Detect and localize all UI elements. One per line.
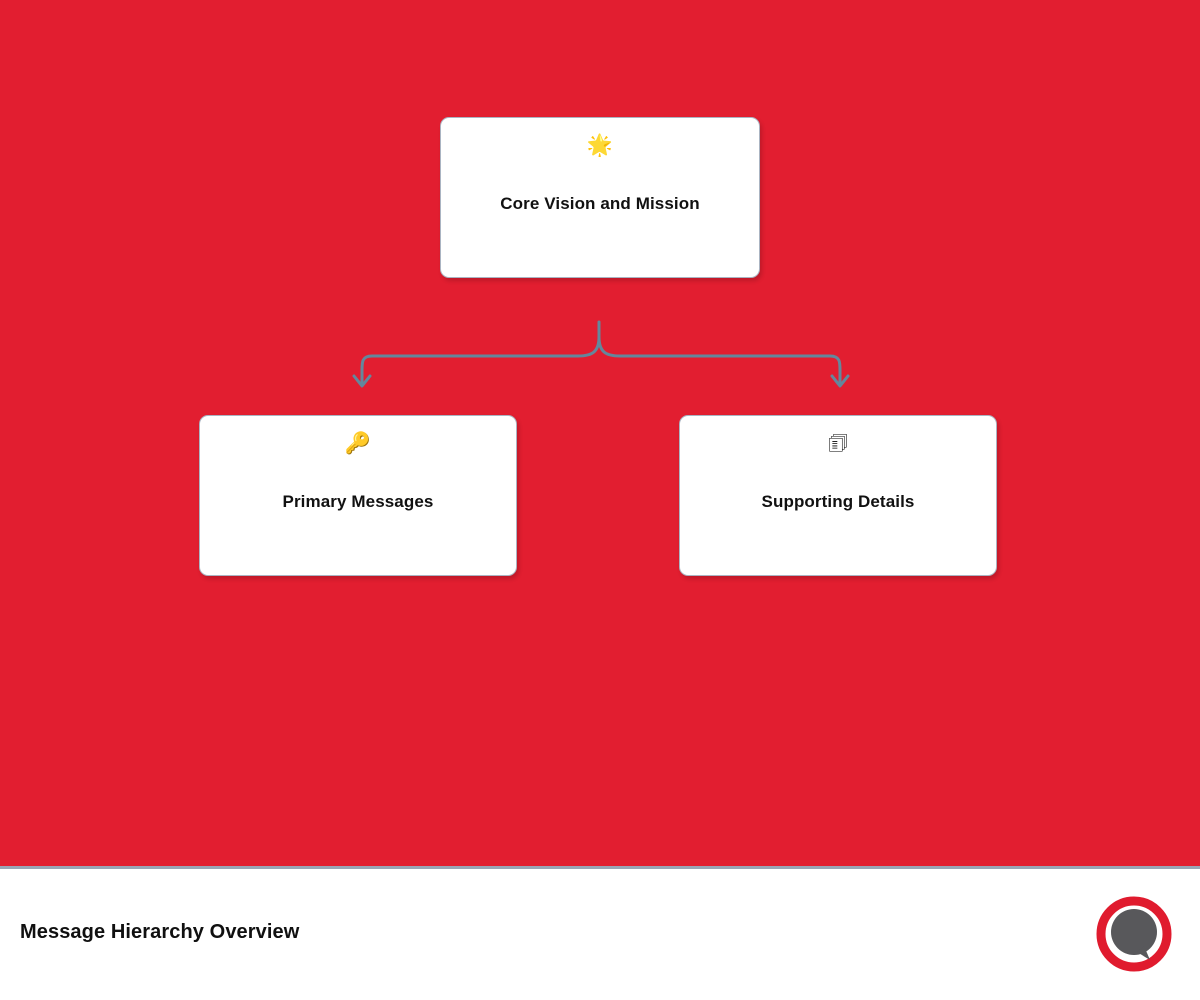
speech-bubble-badge [1094,894,1174,974]
page-title: Message Hierarchy Overview [20,921,299,944]
pages-document-icon: 🗊 [828,430,847,458]
footer-bar: Message Hierarchy Overview [0,866,1200,1000]
diagram-canvas: 🌟 Core Vision and Mission 🔑 Primary Mess… [0,0,1200,866]
edge-root-to-left [362,337,599,385]
glowing-star-icon: 🌟 [587,132,613,160]
arrowhead-left [354,376,370,386]
node-core-vision-and-mission[interactable]: 🌟 Core Vision and Mission [440,117,760,278]
arrowhead-right [832,376,848,386]
node-label: Supporting Details [750,492,927,512]
node-primary-messages[interactable]: 🔑 Primary Messages [199,415,517,576]
badge-bubble-body [1111,909,1157,955]
node-label: Core Vision and Mission [488,194,711,214]
diagram-page: 🌟 Core Vision and Mission 🔑 Primary Mess… [0,0,1200,1000]
key-icon: 🔑 [345,430,371,458]
node-supporting-details[interactable]: 🗊 Supporting Details [679,415,997,576]
node-label: Primary Messages [271,492,446,512]
edge-root-to-right [599,337,840,385]
